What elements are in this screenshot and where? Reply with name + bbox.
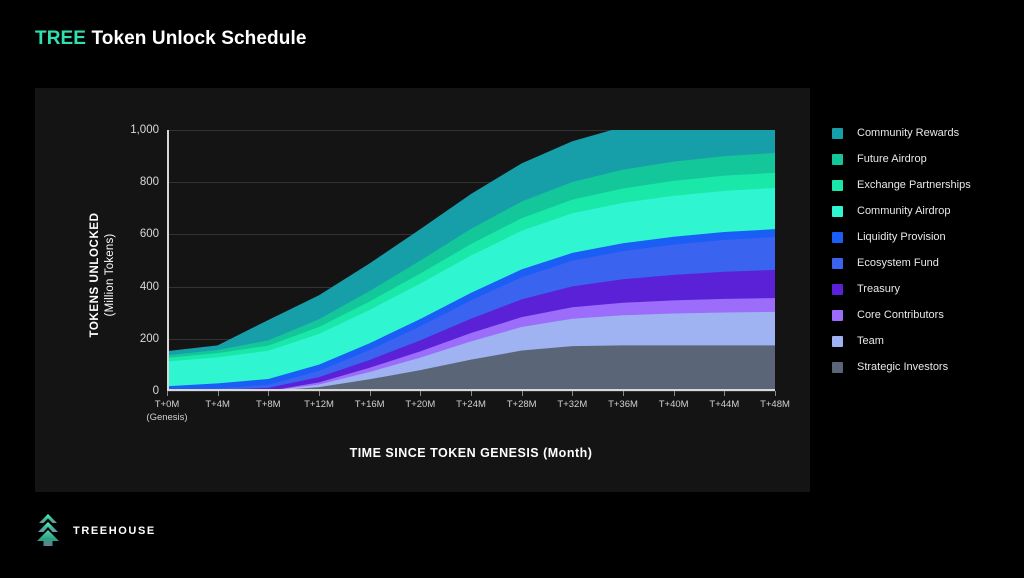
x-axis-tick-label-main: T+12M <box>304 399 334 410</box>
x-axis-tick-label-main: T+16M <box>355 399 385 410</box>
x-axis-tick-mark <box>167 391 168 396</box>
legend-item-label: Exchange Partnerships <box>857 179 971 191</box>
x-axis-tick-mark <box>370 391 371 396</box>
y-axis-tick-label: 200 <box>140 333 159 345</box>
footer-logo: TREEHOUSE <box>33 512 156 550</box>
x-axis-tick-label: T+16M <box>355 398 385 411</box>
legend-item-label: Community Airdrop <box>857 205 951 217</box>
x-axis-tick-mark <box>218 391 219 396</box>
legend-item[interactable]: Community Rewards <box>832 120 1012 146</box>
x-axis-tick-mark <box>471 391 472 396</box>
x-axis-tick-mark <box>572 391 573 396</box>
legend-item[interactable]: Liquidity Provision <box>832 224 1012 250</box>
page-title-brand: TREE <box>35 28 86 49</box>
x-axis-tick-mark <box>522 391 523 396</box>
legend-item[interactable]: Exchange Partnerships <box>832 172 1012 198</box>
x-axis-tick-label-main: T+28M <box>507 399 537 410</box>
plot-axes-frame <box>167 130 775 391</box>
x-axis-tick-label-main: T+24M <box>456 399 486 410</box>
legend-swatch-icon <box>832 336 843 347</box>
legend-item[interactable]: Treasury <box>832 276 1012 302</box>
footer-logo-text: TREEHOUSE <box>73 525 156 537</box>
x-axis-tick-label-sub: (Genesis) <box>146 411 187 424</box>
x-axis-tick-label-main: T+20M <box>405 399 435 410</box>
legend-item-label: Community Rewards <box>857 127 959 139</box>
x-axis-tick-label-main: T+48M <box>760 399 790 410</box>
legend-swatch-icon <box>832 206 843 217</box>
chart-panel: TOKENS UNLOCKED (Million Tokens) 0200400… <box>35 88 810 492</box>
y-axis-tick-labels: 02004006008001,000 <box>97 130 159 391</box>
x-axis-tick-label: T+24M <box>456 398 486 411</box>
x-axis-tick-label: T+12M <box>304 398 334 411</box>
x-axis-tick-label: T+8M <box>256 398 281 411</box>
x-axis-tick-label-main: T+4M <box>205 399 230 410</box>
legend-swatch-icon <box>832 258 843 269</box>
legend-swatch-icon <box>832 284 843 295</box>
legend-item-label: Future Airdrop <box>857 153 927 165</box>
x-axis-tick-label-main: T+0M <box>155 399 180 410</box>
x-axis-tick-mark <box>775 391 776 396</box>
x-axis-tick-label: T+44M <box>709 398 739 411</box>
x-axis-tick-label-main: T+32M <box>557 399 587 410</box>
legend-item[interactable]: Core Contributors <box>832 302 1012 328</box>
x-axis-tick-label: T+28M <box>507 398 537 411</box>
treehouse-tree-icon <box>33 512 63 550</box>
chart-legend: Community RewardsFuture AirdropExchange … <box>832 120 1012 380</box>
x-axis-tick-label: T+36M <box>608 398 638 411</box>
plot-area <box>167 130 775 391</box>
x-axis-tick-label-main: T+40M <box>659 399 689 410</box>
y-axis-tick-label: 600 <box>140 228 159 240</box>
legend-item-label: Treasury <box>857 283 900 295</box>
x-axis-tick-label-main: T+8M <box>256 399 281 410</box>
legend-item-label: Liquidity Provision <box>857 231 946 243</box>
x-axis-title: TIME SINCE TOKEN GENESIS (Month) <box>167 446 775 460</box>
x-axis-tick-label: T+40M <box>659 398 689 411</box>
legend-swatch-icon <box>832 128 843 139</box>
x-axis-tick-label: T+0M(Genesis) <box>146 398 187 424</box>
legend-item-label: Strategic Investors <box>857 361 948 373</box>
x-axis-tick-mark <box>724 391 725 396</box>
legend-item[interactable]: Strategic Investors <box>832 354 1012 380</box>
legend-item[interactable]: Future Airdrop <box>832 146 1012 172</box>
x-axis-tick-mark <box>623 391 624 396</box>
y-axis-tick-label: 1,000 <box>130 124 159 136</box>
legend-swatch-icon <box>832 310 843 321</box>
x-axis-tick-labels: T+0M(Genesis)T+4MT+8MT+12MT+16MT+20MT+24… <box>167 398 775 438</box>
legend-item[interactable]: Ecosystem Fund <box>832 250 1012 276</box>
legend-item[interactable]: Team <box>832 328 1012 354</box>
y-axis-tick-label: 400 <box>140 281 159 293</box>
legend-swatch-icon <box>832 154 843 165</box>
page-title-rest: Token Unlock Schedule <box>91 28 306 49</box>
legend-item-label: Ecosystem Fund <box>857 257 939 269</box>
y-axis-tick-label: 0 <box>153 385 159 397</box>
legend-swatch-icon <box>832 362 843 373</box>
x-axis-tick-mark <box>319 391 320 396</box>
x-axis-tick-mark <box>420 391 421 396</box>
x-axis-tick-label-main: T+36M <box>608 399 638 410</box>
legend-item[interactable]: Community Airdrop <box>832 198 1012 224</box>
legend-item-label: Team <box>857 335 884 347</box>
legend-item-label: Core Contributors <box>857 309 944 321</box>
x-axis-tick-label: T+48M <box>760 398 790 411</box>
x-axis-tick-label: T+32M <box>557 398 587 411</box>
y-axis-tick-label: 800 <box>140 176 159 188</box>
x-axis-tick-label: T+20M <box>405 398 435 411</box>
x-axis-tick-label: T+4M <box>205 398 230 411</box>
legend-swatch-icon <box>832 180 843 191</box>
page-title: TREE Token Unlock Schedule <box>35 28 306 50</box>
x-axis-tick-mark <box>268 391 269 396</box>
x-axis-tick-label-main: T+44M <box>709 399 739 410</box>
x-axis-tick-mark <box>674 391 675 396</box>
legend-swatch-icon <box>832 232 843 243</box>
